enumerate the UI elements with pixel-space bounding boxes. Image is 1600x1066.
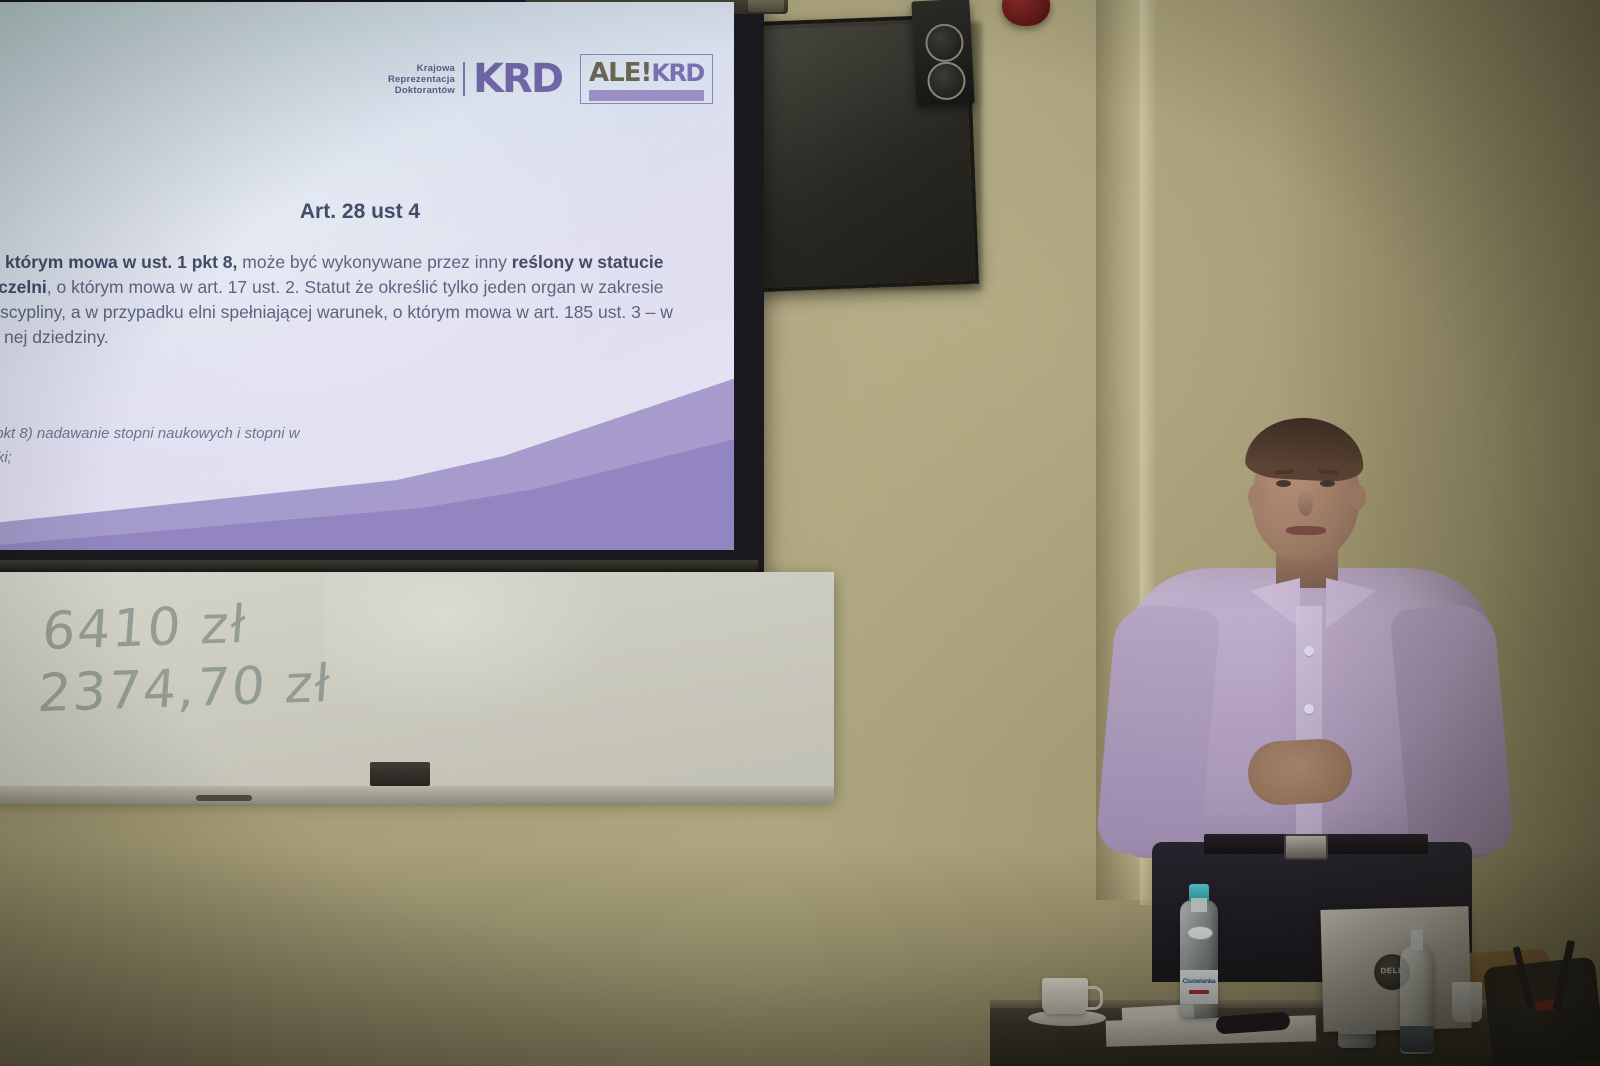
presentation-slide: Krajowa Reprezentacja Doktorantów KRD AL… xyxy=(0,2,734,550)
ale-suffix-text: KRD xyxy=(651,59,704,87)
whiteboard-handwriting: 6410 zł 2374,70 zł xyxy=(36,591,338,726)
slide-body-text: danie, o którym mowa w ust. 1 pkt 8, moż… xyxy=(0,250,694,350)
krd-subtitle-line-2: Reprezentacja xyxy=(388,74,455,85)
speaker-cone-lower-icon xyxy=(927,61,967,101)
ale-krd-underbar xyxy=(589,90,704,101)
wall-speaker xyxy=(911,0,974,106)
slide-footnote-line-1: 8 ust 1 pkt 8) nadawanie stopni naukowyc… xyxy=(0,422,506,446)
slide-footnote-line-2: sie sztuki; xyxy=(0,446,506,470)
bottom-shadow-gradient xyxy=(0,846,1600,1066)
slide-heading: Art. 28 ust 4 xyxy=(0,200,734,224)
projection-screen: Krajowa Reprezentacja Doktorantów KRD AL… xyxy=(0,0,764,580)
krd-subtitle-line-3: Doktorantów xyxy=(388,85,455,96)
presenter-ear-left xyxy=(1248,484,1264,510)
slide-logo-row: Krajowa Reprezentacja Doktorantów KRD AL… xyxy=(388,54,713,104)
krd-logo: Krajowa Reprezentacja Doktorantów KRD xyxy=(388,59,562,99)
krd-subtitle: Krajowa Reprezentacja Doktorantów xyxy=(388,63,455,96)
krd-subtitle-line-1: Krajowa xyxy=(388,63,455,74)
ale-krd-line: ALE! KRD xyxy=(589,58,704,88)
screen-roller-cap xyxy=(748,0,784,12)
speaker-cone-upper-icon xyxy=(925,23,965,63)
krd-logo-divider xyxy=(463,62,465,96)
conference-room-photo: Krajowa Reprezentacja Doktorantów KRD AL… xyxy=(0,0,1600,1066)
whiteboard-glare xyxy=(324,572,624,722)
krd-wordmark-text: KRD xyxy=(473,59,562,99)
ale-krd-logo: ALE! KRD xyxy=(580,54,713,104)
whiteboard-marker xyxy=(196,795,252,801)
presenter-left-arm xyxy=(1095,602,1220,860)
whiteboard-eraser xyxy=(370,762,430,786)
whiteboard-tray xyxy=(0,786,834,804)
handwriting-line-2: 2374,70 zł xyxy=(36,653,334,725)
ale-prefix-text: ALE! xyxy=(589,58,651,88)
slide-footnote: 8 ust 1 pkt 8) nadawanie stopni naukowyc… xyxy=(0,422,506,470)
handwriting-line-1: 6410 zł xyxy=(40,591,338,663)
